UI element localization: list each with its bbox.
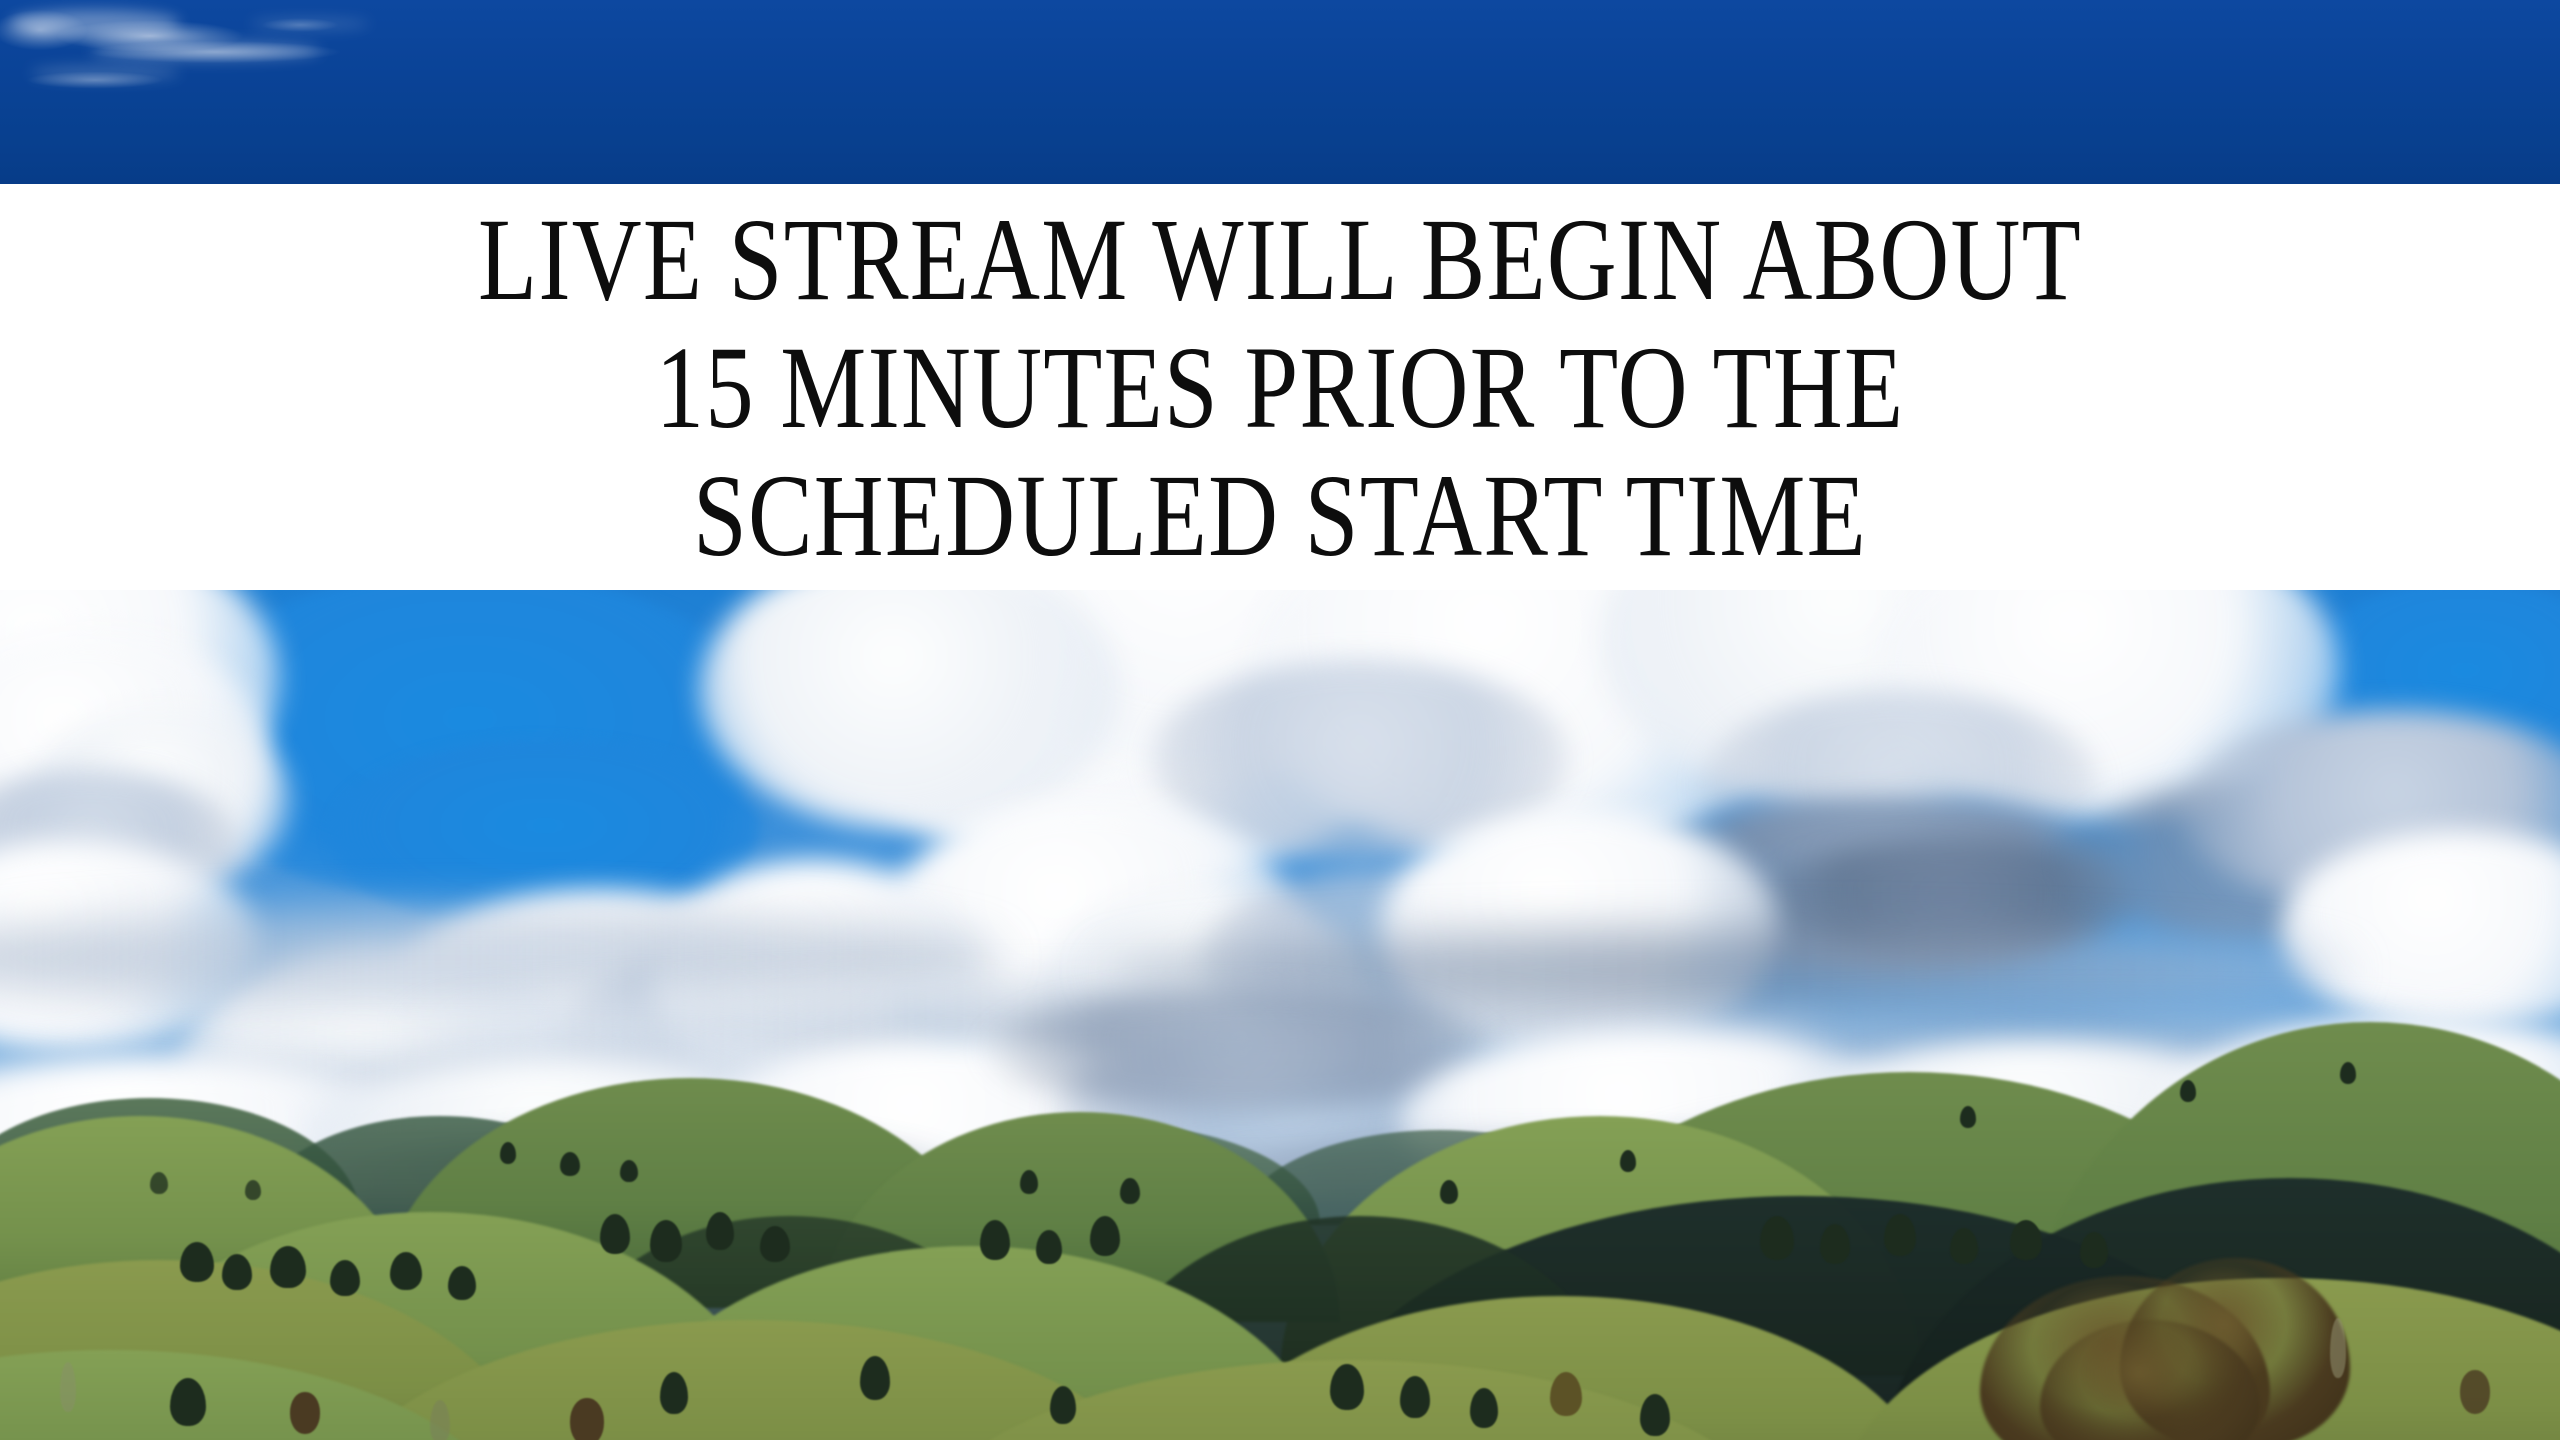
- tree: [330, 1260, 360, 1296]
- tree: [1550, 1372, 1582, 1416]
- tree: [1950, 1228, 1978, 1264]
- tree: [660, 1372, 688, 1414]
- tree: [448, 1266, 476, 1300]
- tree: [860, 1356, 890, 1400]
- tree: [1120, 1178, 1140, 1204]
- slide-root: LIVE STREAM WILL BEGIN ABOUT 15 MINUTES …: [0, 0, 2560, 1440]
- tree: [2460, 1370, 2490, 1414]
- tree: [290, 1392, 320, 1434]
- title-banner: LIVE STREAM WILL BEGIN ABOUT 15 MINUTES …: [0, 184, 2560, 590]
- title-line-3: SCHEDULED START TIME: [230, 452, 2329, 580]
- tree: [1050, 1386, 1076, 1424]
- tree: [980, 1220, 1010, 1260]
- tree: [1820, 1224, 1850, 1264]
- tree: [1330, 1364, 1364, 1410]
- tree: [1960, 1106, 1976, 1128]
- title-line-2: 15 MINUTES PRIOR TO THE: [230, 324, 2329, 452]
- title-line-1: LIVE STREAM WILL BEGIN ABOUT: [230, 196, 2329, 324]
- tree: [2340, 1062, 2356, 1084]
- tree: [500, 1142, 516, 1164]
- cloud-wisp-icon: [30, 66, 180, 80]
- cloud-wisp-icon: [90, 42, 320, 60]
- tree: [150, 1172, 168, 1194]
- tree: [600, 1214, 630, 1254]
- tree: [1620, 1150, 1636, 1172]
- tree: [1760, 1216, 1794, 1260]
- landscape-terrain: [0, 1020, 2560, 1440]
- tree: [222, 1254, 252, 1290]
- tree: [1884, 1214, 1916, 1256]
- tree: [2180, 1080, 2196, 1102]
- tree: [620, 1160, 638, 1182]
- tree: [1440, 1180, 1458, 1204]
- tree: [650, 1220, 682, 1262]
- tree: [560, 1152, 580, 1176]
- tree: [1470, 1388, 1498, 1428]
- tree: [1090, 1216, 1120, 1256]
- cloud-wisp-icon: [10, 10, 180, 36]
- tree: [570, 1398, 604, 1440]
- tree: [390, 1252, 422, 1290]
- tree: [270, 1246, 306, 1288]
- landscape-photo: [0, 590, 2560, 1440]
- cloud-wisp-icon: [250, 18, 370, 30]
- tree: [1400, 1376, 1430, 1418]
- tree: [1020, 1170, 1038, 1194]
- tree: [245, 1180, 261, 1200]
- tree: [2010, 1220, 2042, 1260]
- tree: [2080, 1232, 2108, 1268]
- tree: [1640, 1394, 1670, 1436]
- blue-sky-band: [0, 0, 2560, 184]
- tree: [706, 1212, 734, 1250]
- tree: [180, 1242, 214, 1282]
- tree: [1036, 1230, 1062, 1264]
- tree: [760, 1226, 790, 1262]
